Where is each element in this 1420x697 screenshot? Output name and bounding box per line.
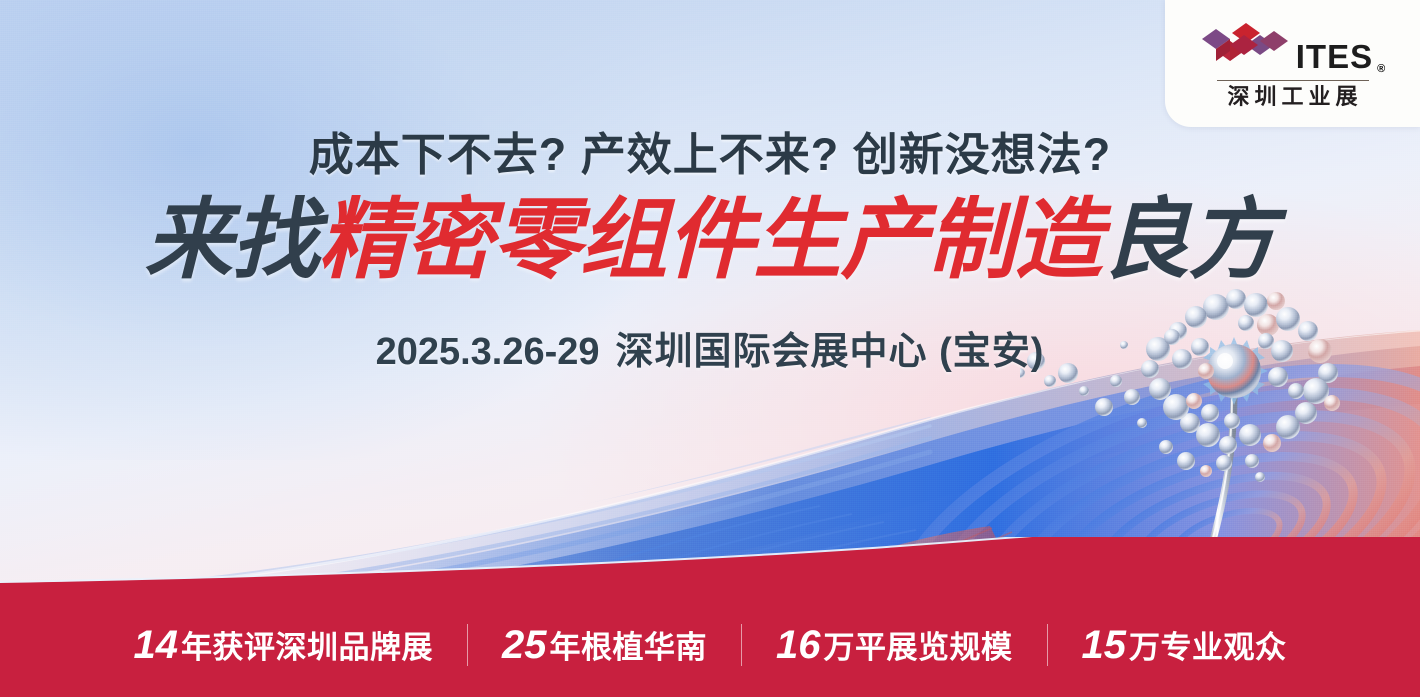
stats-row: 14 年获评深圳品牌展 25 年根植华南 16 万平展览规模 15 万专业观众 [0,593,1420,697]
stat-item: 16 万平展览规模 [742,622,1047,668]
stat-number: 16 [776,623,821,668]
stat-number: 14 [134,623,179,668]
event-dateline: 2025.3.26-29深圳国际会展中心 (宝安) [0,320,1420,375]
ites-chevron-mark [1200,21,1292,75]
stat-number: 15 [1082,623,1127,668]
stat-label: 万平展览规模 [824,622,1013,667]
stat-label: 年获评深圳品牌展 [181,622,433,667]
stat-item: 15 万专业观众 [1048,622,1321,668]
stat-number: 25 [502,623,547,668]
page-title: 来找精密零组件生产制造良方 [0,192,1420,289]
registered-mark: ® [1377,63,1385,75]
stat-item: 14 年获评深圳品牌展 [100,622,468,668]
logo-subtitle: 深圳工业展 [1222,85,1362,109]
stat-label: 万专业观众 [1129,622,1287,667]
promo-banner: 成本下不去? 产效上不来? 创新没想法? 来找精密零组件生产制造良方 2025.… [0,0,1420,697]
event-venue: 深圳国际会展中心 (宝安) [616,331,1045,373]
event-date: 2025.3.26-29 [376,331,600,373]
logo-wordmark: ITES [1296,40,1373,73]
stat-label: 年根植华南 [550,622,708,667]
stat-item: 25 年根植华南 [468,622,741,668]
title-emphasis: 精密零组件生产制造 [318,190,1101,289]
title-tail: 良方 [1102,190,1276,289]
logo-divider [1217,80,1369,81]
page-subheadline: 成本下不去? 产效上不来? 创新没想法? [0,118,1420,183]
logo-lockup: ITES ® [1200,17,1385,75]
ites-logo[interactable]: ITES ® 深圳工业展 [1165,0,1420,127]
stats-bar: 14 年获评深圳品牌展 25 年根植华南 16 万平展览规模 15 万专业观众 [0,537,1420,697]
title-lead: 来找 [144,190,318,289]
